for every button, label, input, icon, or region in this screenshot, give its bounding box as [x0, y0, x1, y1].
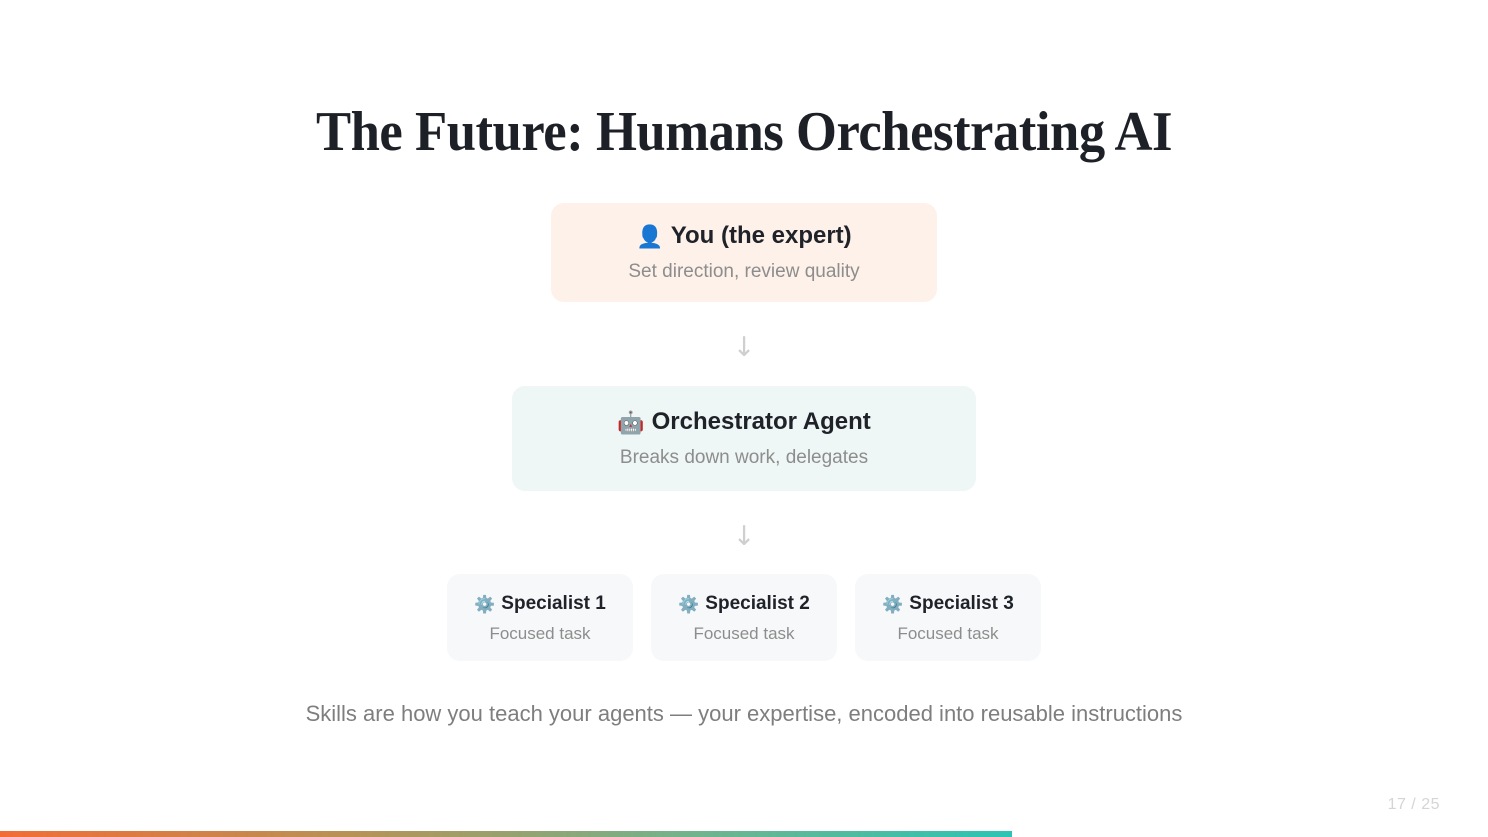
- page-counter: 17 / 25: [1388, 796, 1440, 814]
- flow-card-expert-subtitle: Set direction, review quality: [628, 260, 859, 284]
- gear-emoji: ⚙️: [882, 595, 903, 615]
- flow-card-expert-title-text: You (the expert): [671, 222, 852, 249]
- flow-card-specialist-2[interactable]: ⚙️Specialist 2 Focused task: [651, 574, 837, 661]
- specialist-card-row: ⚙️Specialist 1 Focused task ⚙️Specialist…: [447, 574, 1041, 661]
- page-title: The Future: Humans Orchestrating AI: [45, 101, 1444, 163]
- flow-card-specialist-3[interactable]: ⚙️Specialist 3 Focused task: [855, 574, 1041, 661]
- flow-card-specialist-3-title-text: Specialist 3: [909, 593, 1014, 614]
- flow-card-expert-title: 👤You (the expert): [636, 221, 851, 253]
- down-arrow-icon: ↓: [733, 523, 756, 550]
- flow-card-specialist-1-title-text: Specialist 1: [501, 593, 606, 614]
- flow-card-specialist-2-title: ⚙️Specialist 2: [678, 592, 810, 617]
- flow-card-specialist-1-subtitle: Focused task: [489, 623, 590, 644]
- flow-card-specialist-3-title: ⚙️Specialist 3: [882, 592, 1014, 617]
- flow-card-specialist-2-title-text: Specialist 2: [705, 593, 810, 614]
- down-arrow-icon: ↓: [733, 334, 756, 361]
- flow-card-orchestrator-title: 🤖Orchestrator Agent: [617, 407, 871, 439]
- slide-caption: Skills are how you teach your agents — y…: [0, 700, 1488, 728]
- robot-emoji: 🤖: [617, 411, 644, 436]
- flow-card-expert[interactable]: 👤You (the expert) Set direction, review …: [551, 203, 937, 302]
- flow-card-specialist-1-title: ⚙️Specialist 1: [474, 592, 606, 617]
- orchestration-flow-diagram: 👤You (the expert) Set direction, review …: [0, 203, 1488, 661]
- flow-card-orchestrator[interactable]: 🤖Orchestrator Agent Breaks down work, de…: [512, 386, 976, 491]
- gear-emoji: ⚙️: [474, 595, 495, 615]
- flow-card-orchestrator-subtitle: Breaks down work, delegates: [620, 446, 868, 470]
- bust-in-silhouette-emoji: 👤: [636, 225, 663, 250]
- flow-card-orchestrator-title-text: Orchestrator Agent: [652, 408, 871, 435]
- slide-progress-track[interactable]: [0, 831, 1488, 837]
- slide-progress-fill: [0, 831, 1012, 837]
- presentation-slide: The Future: Humans Orchestrating AI 👤You…: [0, 0, 1488, 837]
- flow-card-specialist-1[interactable]: ⚙️Specialist 1 Focused task: [447, 574, 633, 661]
- flow-card-specialist-2-subtitle: Focused task: [693, 623, 794, 644]
- flow-card-specialist-3-subtitle: Focused task: [897, 623, 998, 644]
- gear-emoji: ⚙️: [678, 595, 699, 615]
